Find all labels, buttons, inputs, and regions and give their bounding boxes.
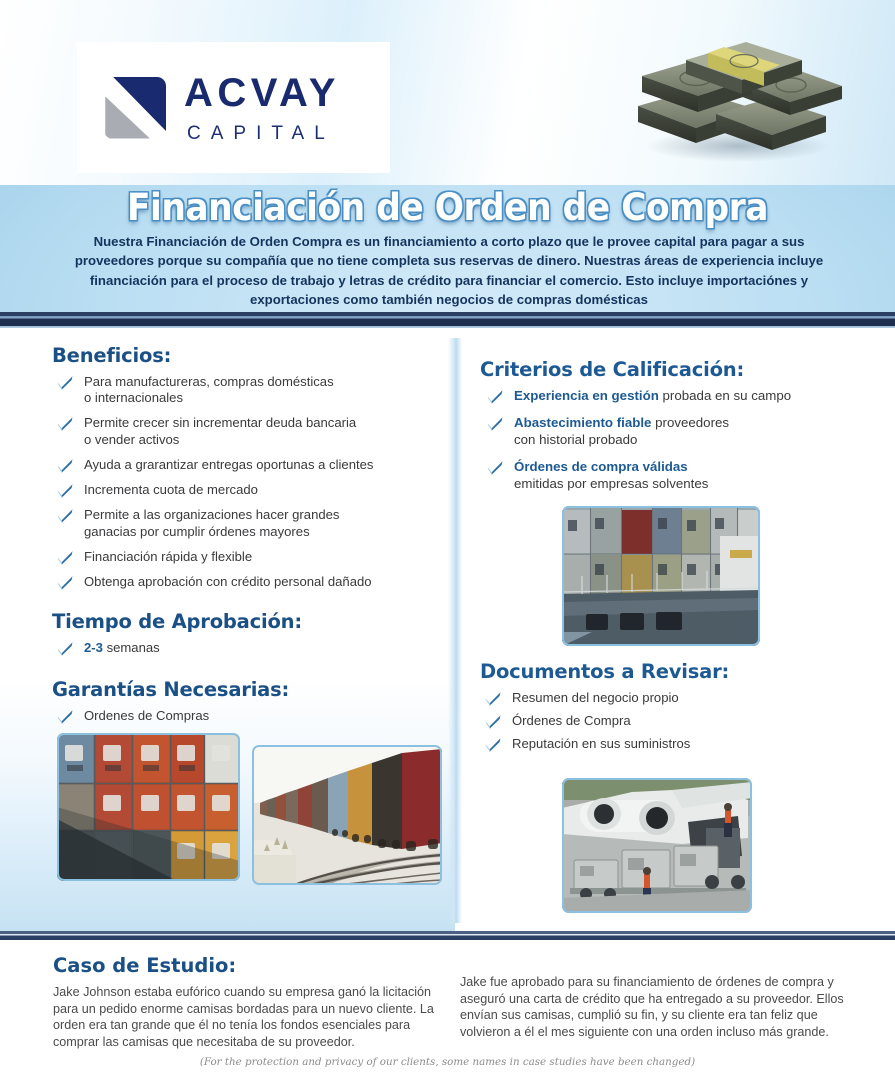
brand-tagline: CAPITAL	[187, 124, 340, 143]
list-item: Órdenes de Compra	[480, 713, 875, 729]
list-item: Abastecimiento fiable proveedores con hi…	[480, 415, 875, 448]
header-subtitle: Nuestra Financiación de Orden Compra es …	[65, 232, 833, 310]
list-item-label: Órdenes de Compra	[512, 713, 631, 728]
criteria-list: Experiencia en gestión probada en su cam…	[480, 388, 875, 492]
list-item: Financiación rápida y flexible	[52, 549, 452, 565]
divider-bottom	[0, 931, 895, 942]
list-item-label: Obtenga aprobación con crédito personal …	[84, 574, 372, 589]
check-icon	[56, 709, 74, 725]
right-column: Criterios de Calificación: Experiencia e…	[480, 358, 875, 503]
list-item-label: Ordenes de Compras	[84, 708, 209, 723]
divider-top	[0, 312, 895, 330]
list-item-label: Financiación rápida y flexible	[84, 549, 252, 564]
list-item-lead: Órdenes de compra válidas	[514, 459, 688, 474]
list-item-label: Incrementa cuota de mercado	[84, 482, 258, 497]
list-item-lead: 2-3	[84, 640, 103, 655]
guarantees-heading: Garantías Necesarias:	[52, 678, 452, 701]
list-item-label: probada en su campo	[659, 388, 791, 403]
list-item-label: Para manufactureras, compras domésticas …	[84, 374, 334, 405]
check-icon	[484, 714, 502, 730]
check-icon	[56, 508, 74, 524]
air-cargo-loading-photo	[562, 778, 752, 913]
list-item-lead: Experiencia en gestión	[514, 388, 659, 403]
acvay-triangle-mark-icon	[104, 77, 166, 139]
list-item-label: semanas	[103, 640, 160, 655]
list-item: Obtenga aprobación con crédito personal …	[52, 574, 452, 590]
check-icon	[56, 375, 74, 391]
benefits-heading: Beneficios:	[52, 344, 452, 367]
brand-name: ACVAY	[184, 73, 340, 113]
check-icon	[56, 458, 74, 474]
left-column: Beneficios: Para manufactureras, compras…	[52, 344, 452, 731]
list-item-label: Resumen del negocio propio	[512, 690, 679, 705]
approval-time-list: 2-3 semanas	[52, 640, 452, 656]
list-item: Incrementa cuota de mercado	[52, 482, 452, 498]
brand-logo: ACVAY CAPITAL	[77, 42, 390, 173]
list-item: Órdenes de compra válidas emitidas por e…	[480, 459, 875, 492]
list-item-label: emitidas por empresas solventes	[514, 476, 708, 491]
list-item-label: Permite a las organizaciones hacer grand…	[84, 507, 339, 538]
header-banner: ACVAY CAPITAL Financiación de Orden de C…	[0, 0, 895, 312]
list-item: Permite a las organizaciones hacer grand…	[52, 507, 452, 539]
list-item: Ordenes de Compras	[52, 708, 452, 724]
list-item-label: Reputación en sus suministros	[512, 736, 690, 751]
check-icon	[56, 416, 74, 432]
check-icon	[484, 691, 502, 707]
check-icon	[56, 641, 74, 657]
documents-heading: Documentos a Revisar:	[480, 660, 875, 683]
stacked-containers-bottom-photo	[57, 733, 240, 881]
list-item: Reputación en sus suministros	[480, 736, 875, 752]
benefits-list: Para manufactureras, compras domésticas …	[52, 374, 452, 590]
flyer-page: ACVAY CAPITAL Financiación de Orden de C…	[0, 0, 895, 1080]
check-icon	[486, 389, 504, 405]
check-icon	[486, 460, 504, 476]
check-icon	[56, 483, 74, 499]
list-item: 2-3 semanas	[52, 640, 452, 656]
list-item: Resumen del negocio propio	[480, 690, 875, 706]
documents-list: Resumen del negocio propio Órdenes de Co…	[480, 690, 875, 753]
check-icon	[484, 737, 502, 753]
container-ship-at-port-photo	[562, 506, 760, 646]
case-study-heading: Caso de Estudio:	[53, 954, 236, 977]
list-item: Ayuda a grarantizar entregas oportunas a…	[52, 457, 452, 473]
money-stacks-photo	[620, 38, 863, 166]
case-study-text-left: Jake Johnson estaba eufórico cuando su e…	[53, 984, 443, 1051]
list-item: Experiencia en gestión probada en su cam…	[480, 388, 875, 404]
list-item-lead: Abastecimiento fiable	[514, 415, 651, 430]
documents-section: Documentos a Revisar: Resumen del negoci…	[480, 660, 875, 760]
list-item: Permite crecer sin incrementar deuda ban…	[52, 415, 452, 447]
list-item: Para manufactureras, compras domésticas …	[52, 374, 452, 406]
check-icon	[486, 416, 504, 432]
criteria-heading: Criterios de Calificación:	[480, 358, 875, 381]
guarantees-list: Ordenes de Compras	[52, 708, 452, 724]
page-title: Financiación de Orden de Compra	[31, 186, 863, 229]
list-item-label: Ayuda a grarantizar entregas oportunas a…	[84, 457, 373, 472]
freight-train-on-curved-track-photo	[252, 745, 442, 885]
list-item-label: Permite crecer sin incrementar deuda ban…	[84, 415, 356, 446]
case-study-disclaimer: (For the protection and privacy of our c…	[0, 1056, 895, 1068]
check-icon	[56, 575, 74, 591]
approval-time-heading: Tiempo de Aprobación:	[52, 610, 452, 633]
check-icon	[56, 550, 74, 566]
case-study-text-right: Jake fue aprobado para su financiamiento…	[460, 974, 850, 1041]
